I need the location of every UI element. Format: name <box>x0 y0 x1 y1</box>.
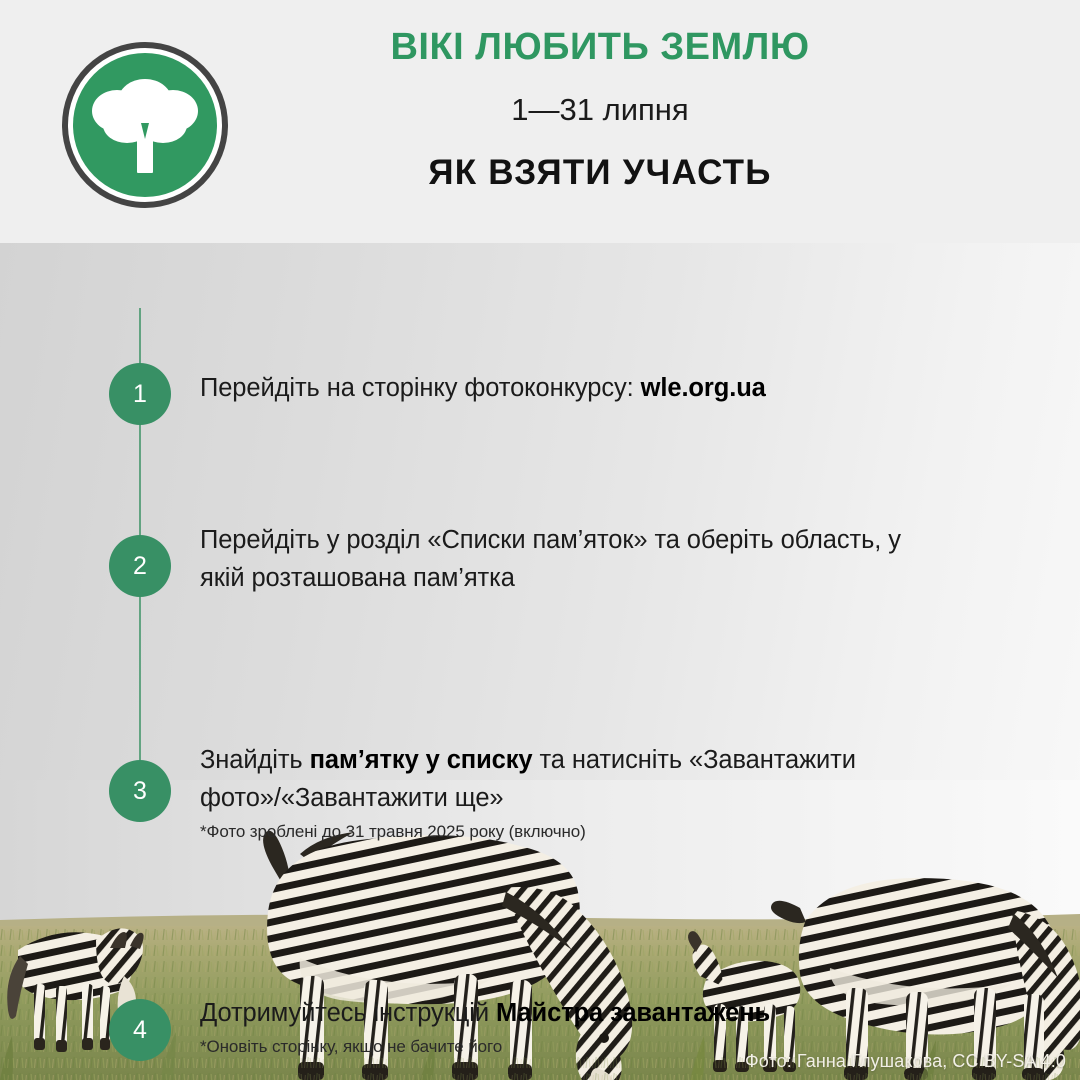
campaign-dates: 1—31 липня <box>250 92 950 128</box>
step-text: Знайдіть пам’ятку у списку та натисніть … <box>200 741 940 817</box>
page-title: ВІКІ ЛЮБИТЬ ЗЕМЛЮ <box>250 26 950 70</box>
step-content: Дотримуйтесь інструкцій Майстра завантаж… <box>200 994 940 1059</box>
header-band: ВІКІ ЛЮБИТЬ ЗЕМЛЮ 1—31 липня ЯК ВЗЯТИ УЧ… <box>0 0 1080 243</box>
step-text: Перейдіть у розділ «Списки пам’яток» та … <box>200 521 940 597</box>
wle-logo <box>62 42 228 208</box>
step-number-badge: 3 <box>109 760 171 822</box>
step-footnote: *Оновіть сторінку, якщо не бачите його <box>200 1035 940 1059</box>
step-text: Перейдіть на сторінку фотоконкурсу: wle.… <box>200 369 940 407</box>
tree-icon <box>73 53 217 197</box>
step-content: Перейдіть на сторінку фотоконкурсу: wle.… <box>200 369 940 407</box>
header-text-block: ВІКІ ЛЮБИТЬ ЗЕМЛЮ 1—31 липня ЯК ВЗЯТИ УЧ… <box>250 0 950 243</box>
page-subtitle: ЯК ВЗЯТИ УЧАСТЬ <box>250 153 950 193</box>
step-footnote: *Фото зроблені до 31 травня 2025 року (в… <box>200 820 940 844</box>
step-number-badge: 1 <box>109 363 171 425</box>
step-number-badge: 2 <box>109 535 171 597</box>
infographic-poster: ВІКІ ЛЮБИТЬ ЗЕМЛЮ 1—31 липня ЯК ВЗЯТИ УЧ… <box>0 0 1080 1080</box>
step-text: Дотримуйтесь інструкцій Майстра завантаж… <box>200 994 940 1032</box>
steps-list: 1 Перейдіть на сторінку фотоконкурсу: wl… <box>0 243 1080 803</box>
step-content: Перейдіть у розділ «Списки пам’яток» та … <box>200 521 940 597</box>
step-number-badge: 4 <box>109 999 171 1061</box>
step-content: Знайдіть пам’ятку у списку та натисніть … <box>200 741 940 844</box>
